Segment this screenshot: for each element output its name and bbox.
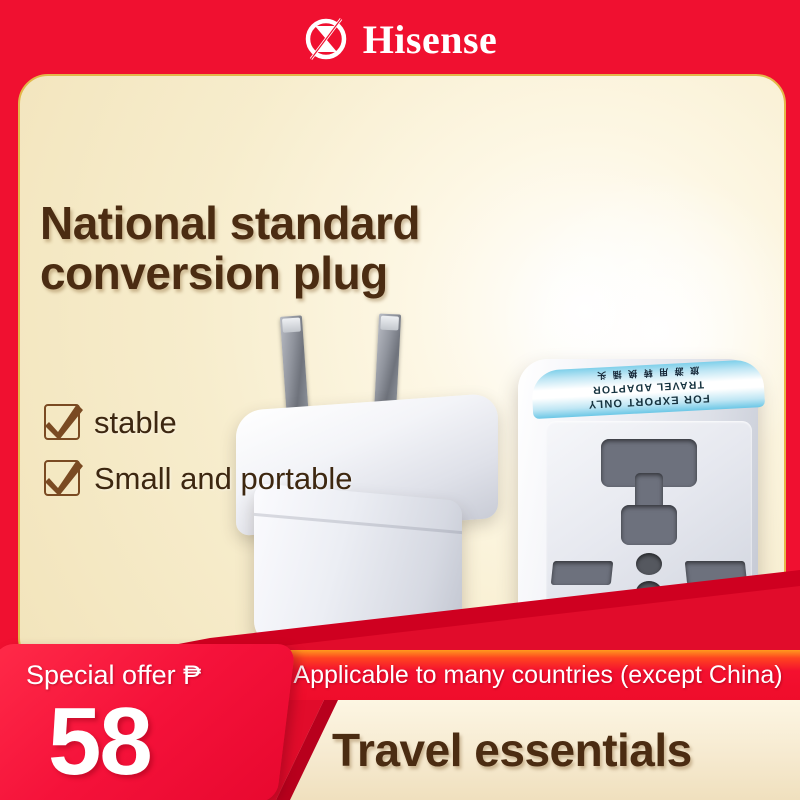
card-glow <box>494 166 786 496</box>
product-advertisement-poster: Hisense 10A 250V L N FOR EXPORT ONLY <box>0 0 800 800</box>
brand-header: Hisense <box>0 0 800 78</box>
headline-line-2: conversion plug <box>40 249 420 299</box>
special-offer-badge: Special offer ₱ 58 <box>0 644 286 800</box>
special-offer-label: Special offer ₱ <box>26 662 201 689</box>
checkbox-checked-icon <box>44 404 80 440</box>
travel-essentials-banner: Travel essentials <box>276 700 800 800</box>
headline-line-1: National standard <box>40 199 420 249</box>
applicable-countries-text: Applicable to many countries (except Chi… <box>293 663 782 688</box>
feature-item-portable: Small and portable <box>44 460 353 496</box>
hisense-logo-icon <box>303 16 349 62</box>
offer-price-value: 58 <box>48 694 151 790</box>
checkbox-checked-icon <box>44 460 80 496</box>
travel-essentials-text: Travel essentials <box>332 727 692 773</box>
applicable-countries-banner: Applicable to many countries (except Chi… <box>276 650 800 700</box>
page-title: National standard conversion plug <box>40 199 420 298</box>
brand-name: Hisense <box>363 20 498 60</box>
feature-label: Small and portable <box>94 463 353 494</box>
feature-label: stable <box>94 407 177 438</box>
feature-item-stable: stable <box>44 404 353 440</box>
feature-list: stable Small and portable <box>44 404 353 516</box>
